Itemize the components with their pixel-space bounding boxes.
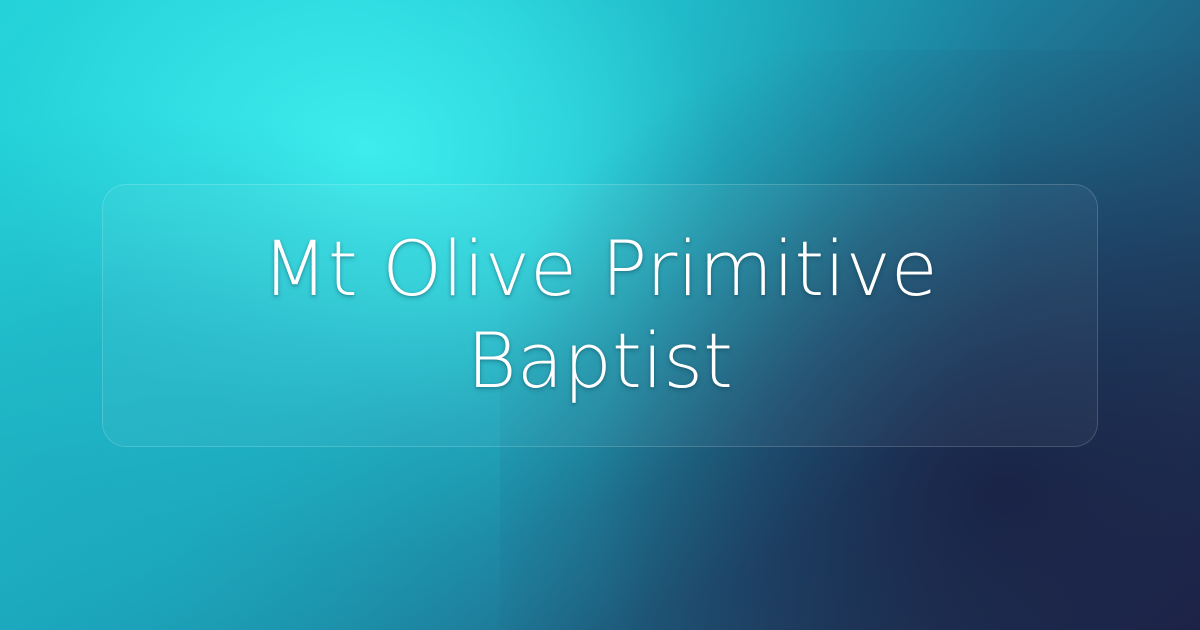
title-card: Mt Olive Primitive Baptist: [102, 184, 1098, 447]
og-image-canvas: Mt Olive Primitive Baptist: [0, 0, 1200, 630]
page-title: Mt Olive Primitive Baptist: [149, 223, 1051, 407]
